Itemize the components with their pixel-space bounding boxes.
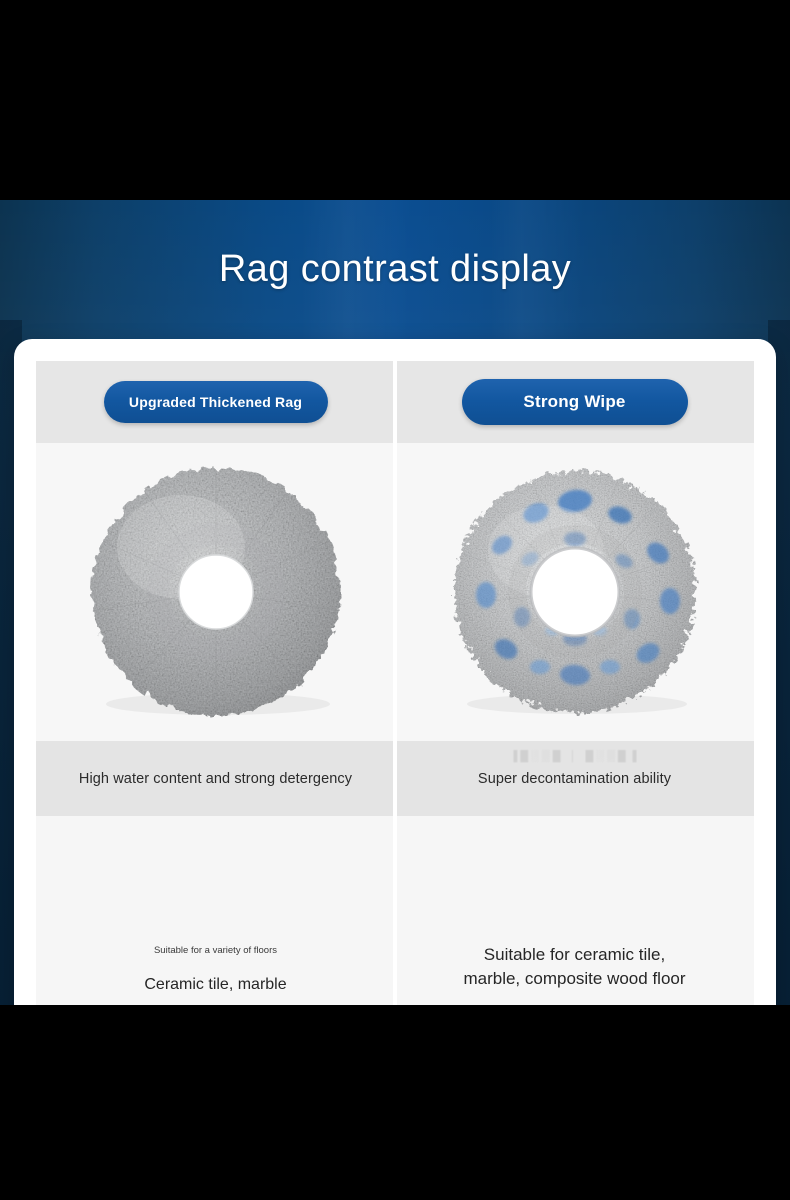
letterbox-top [0, 0, 790, 200]
mop-pad-blue-accent-bristle-icon [444, 461, 706, 723]
comparison-card: Upgraded Thickened Rag Strong Wipe [14, 339, 776, 1005]
letterbox-bottom [0, 1005, 790, 1200]
column-right-floors: Suitable for ceramic tile, marble, compo… [395, 816, 754, 1005]
screenshot-root: Rag contrast display Upgraded Thickened … [0, 0, 790, 1200]
floor-main-right: Suitable for ceramic tile, marble, compo… [460, 943, 690, 991]
column-left-header: Upgraded Thickened Rag [36, 361, 395, 443]
column-left-floors: Suitable for a variety of floors Ceramic… [36, 816, 395, 1005]
table-row-floors: Suitable for a variety of floors Ceramic… [36, 816, 754, 1005]
floor-main-left: Ceramic tile, marble [144, 976, 286, 994]
comparison-table: Upgraded Thickened Rag Strong Wipe [36, 361, 754, 1005]
floor-block-right: Suitable for ceramic tile, marble, compo… [442, 943, 708, 1005]
jpeg-ghost-artifact: ▐█░▒█ │ █░▒█▐ [475, 750, 675, 764]
column-left-claim: High water content and strong detergency [36, 741, 395, 816]
column-right-image [395, 443, 754, 741]
pill-strong-wipe[interactable]: Strong Wipe [462, 379, 688, 425]
pill-upgraded-thickened-rag[interactable]: Upgraded Thickened Rag [104, 381, 328, 423]
claim-text-left: High water content and strong detergency [79, 771, 352, 787]
table-row-claims: High water content and strong detergency… [36, 741, 754, 816]
table-row-headers: Upgraded Thickened Rag Strong Wipe [36, 361, 754, 443]
page-title: Rag contrast display [0, 248, 790, 291]
floor-kicker-left: Suitable for a variety of floors [154, 945, 277, 956]
mop-pad-gray-chenille-icon [85, 461, 347, 723]
table-row-images [36, 443, 754, 741]
claim-text-right: Super decontamination ability [478, 771, 671, 787]
column-right-claim: ▐█░▒█ │ █░▒█▐ Super decontamination abil… [395, 741, 754, 816]
blue-stage: Rag contrast display Upgraded Thickened … [0, 200, 790, 1005]
column-right-header: Strong Wipe [395, 361, 754, 443]
column-left-image [36, 443, 395, 741]
floor-block-left: Suitable for a variety of floors Ceramic… [118, 945, 313, 1005]
